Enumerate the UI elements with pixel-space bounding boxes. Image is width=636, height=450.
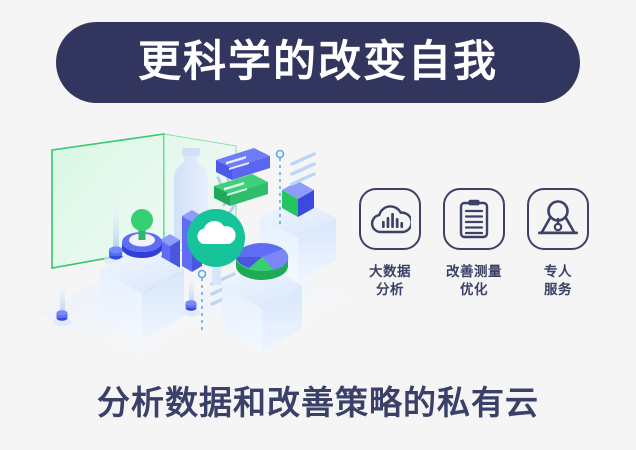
feature-label-support: 专人 服务: [544, 263, 572, 299]
feature-item-measurement[interactable]: 改善测量 优化: [436, 188, 512, 299]
clipboard-icon-frame: [443, 188, 505, 250]
tagline: 分析数据和改善策略的私有云: [0, 385, 636, 421]
header-banner: 更科学的改变自我: [56, 22, 580, 103]
page-title: 更科学的改变自我: [138, 41, 498, 84]
promo-banner-page: 更科学的改变自我: [0, 0, 636, 450]
feature-item-support[interactable]: 专人 服务: [520, 188, 596, 299]
pie-chart-3d: [236, 243, 288, 280]
support-person-icon: [536, 199, 580, 239]
support-person-icon-frame: [527, 188, 589, 250]
feature-label-line2: 服务: [544, 281, 572, 299]
feature-label-measurement: 改善测量 优化: [446, 263, 502, 299]
feature-item-big-data[interactable]: 大数据 分析: [352, 188, 428, 299]
connector-node: [277, 151, 284, 158]
illustration: [30, 118, 360, 368]
feature-label-line1: 大数据: [369, 264, 411, 279]
cloud-bar-chart-icon: [369, 202, 411, 236]
feature-label-line2: 优化: [446, 281, 502, 299]
clipboard-icon: [457, 199, 491, 239]
cloud-bar-chart-icon-frame: [359, 188, 421, 250]
feature-label-line1: 改善测量: [446, 264, 502, 279]
feature-label-line1: 专人: [544, 264, 572, 279]
feature-label-line2: 分析: [369, 281, 411, 299]
feature-list: 大数据 分析 改善测量: [352, 188, 596, 320]
pin-marker-small-a: [182, 268, 200, 317]
feature-label-big-data: 大数据 分析: [369, 263, 411, 299]
connector-node: [199, 271, 206, 278]
